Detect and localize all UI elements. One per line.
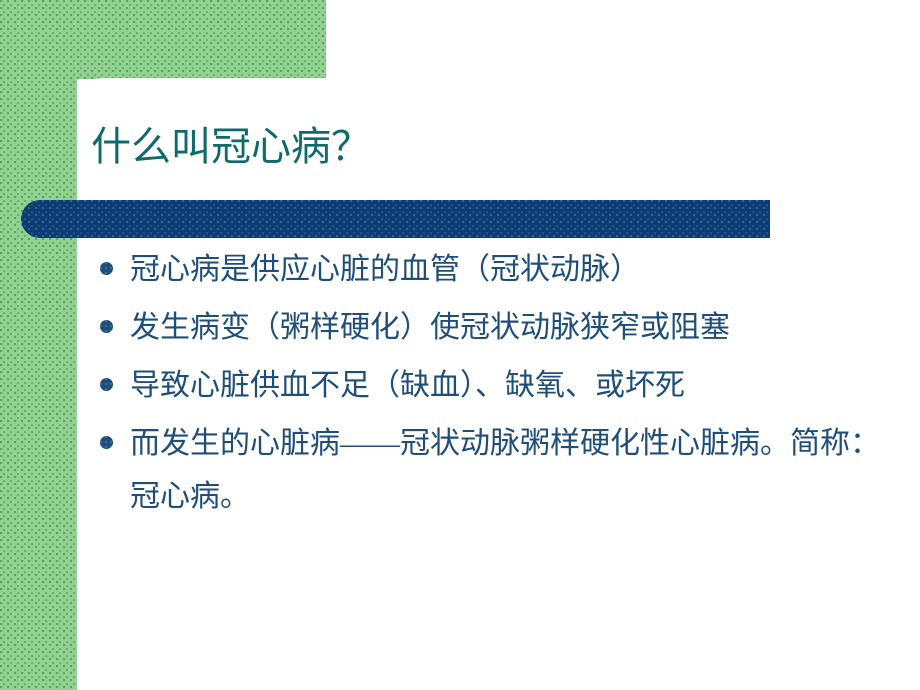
- list-item: 发生病变（粥样硬化）使冠状动脉狭窄或阻塞: [96, 301, 896, 354]
- list-item: 而发生的心脏病——冠状动脉粥样硬化性心脏病。简称：冠心病。: [96, 417, 896, 523]
- list-item-label: 发生病变（粥样硬化）使冠状动脉狭窄或阻塞: [130, 301, 896, 354]
- green-left-sidebar: [0, 0, 77, 690]
- bullet-dot-icon: [100, 262, 113, 275]
- title-accent-bar: [21, 200, 770, 238]
- bullet-dot-icon: [100, 378, 113, 391]
- list-item-label: 而发生的心脏病——冠状动脉粥样硬化性心脏病。简称：冠心病。: [130, 417, 896, 523]
- bullet-dot-icon: [100, 436, 113, 449]
- list-item-label: 导致心脏供血不足（缺血）、缺氧、或坏死: [130, 359, 896, 412]
- presentation-slide: 什么叫冠心病？ 冠心病是供应心脏的血管（冠状动脉） 发生病变（粥样硬化）使冠状动…: [0, 0, 920, 690]
- list-item: 导致心脏供血不足（缺血）、缺氧、或坏死: [96, 359, 896, 412]
- bullet-list: 冠心病是供应心脏的血管（冠状动脉） 发生病变（粥样硬化）使冠状动脉狭窄或阻塞 导…: [96, 243, 896, 523]
- list-item: 冠心病是供应心脏的血管（冠状动脉）: [96, 243, 896, 296]
- list-item-label: 冠心病是供应心脏的血管（冠状动脉）: [130, 243, 896, 296]
- bullet-dot-icon: [100, 320, 113, 333]
- slide-title: 什么叫冠心病？: [91, 123, 851, 171]
